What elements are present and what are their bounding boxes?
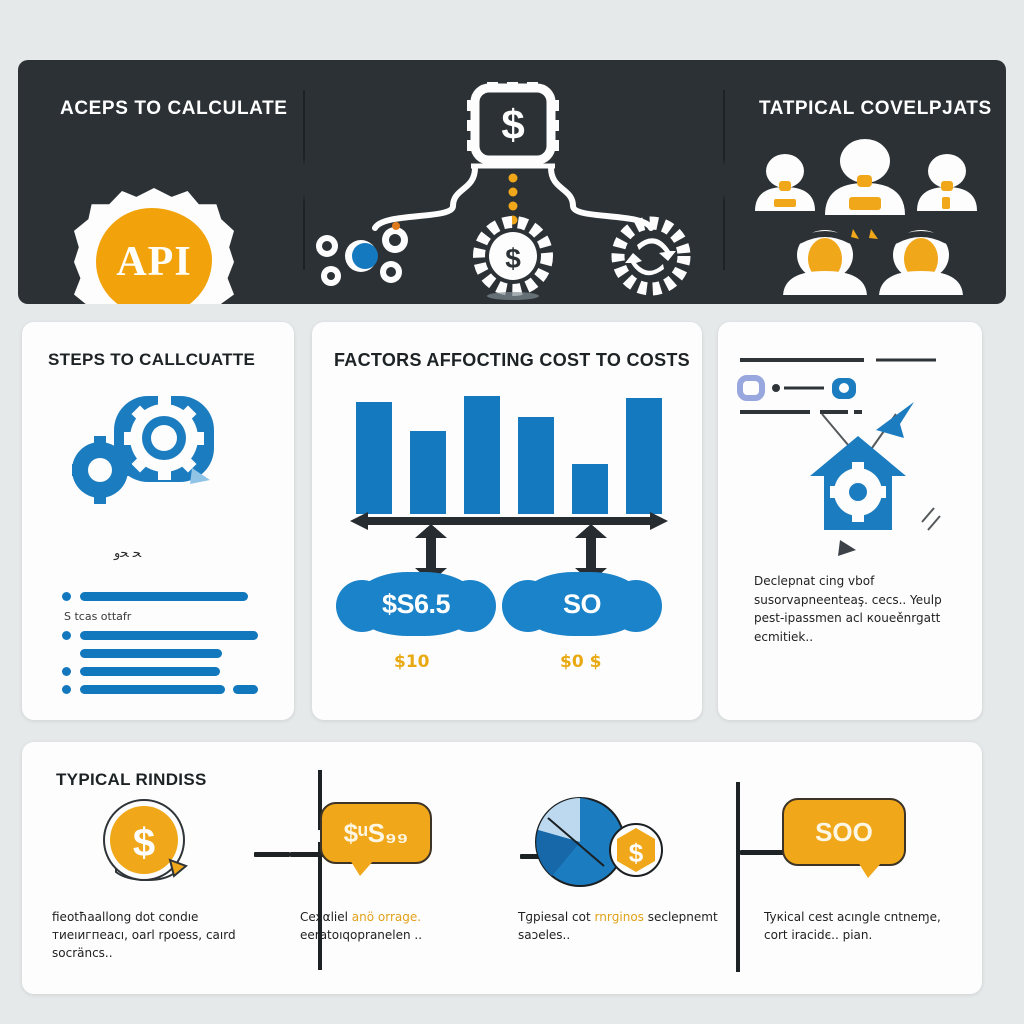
bottom-caption-plain: Tɡpiesal cot bbox=[518, 910, 591, 924]
bullet-icon bbox=[62, 667, 71, 676]
svg-text:$: $ bbox=[501, 101, 524, 148]
list-item bbox=[62, 667, 258, 676]
recycle-gear-icon bbox=[618, 223, 684, 289]
bar bbox=[410, 431, 446, 514]
header-right-title: TATPICAL COVELPJATS bbox=[759, 98, 992, 120]
cost-badge-value: $S6.5 bbox=[382, 589, 450, 620]
bottom-panel-title: TYPICAL RINDISS bbox=[56, 770, 207, 790]
bottom-caption-highlight: aոö orrage. bbox=[348, 910, 421, 924]
bottom-caption-highlight: rnrɡinos bbox=[591, 910, 644, 924]
bar bbox=[572, 464, 608, 514]
speech-tail-icon bbox=[350, 860, 374, 876]
header-divider-1 bbox=[303, 90, 305, 270]
bottom-caption: Cexαliel aոö orrage. eeratoıqopranelen .… bbox=[300, 908, 500, 944]
skeleton-bar bbox=[80, 685, 225, 694]
bottom-column-bubble-1: $ᵘS₉₉ Cexαliel aոö orrage. eeratoıqopran… bbox=[300, 788, 510, 988]
gears-cluster-icon bbox=[316, 222, 408, 286]
bottom-panel: TYPICAL RINDISS $ fieotħaallong dot cond… bbox=[22, 742, 982, 994]
bottom-caption-plain: Cexαliel bbox=[300, 910, 348, 924]
bottom-divider-2 bbox=[736, 782, 740, 972]
infographic-page: ACEPS TO CALCULATE API bbox=[0, 0, 1024, 1024]
skeleton-bar bbox=[80, 649, 222, 658]
speech-bubble-wrap: SOO bbox=[752, 788, 952, 898]
dollar-gear-icon: $ bbox=[479, 222, 547, 300]
pie-chart-dollar-icon: $ bbox=[518, 788, 718, 898]
svg-text:$: $ bbox=[505, 243, 521, 274]
gears-icon bbox=[72, 390, 232, 520]
bullet-icon bbox=[62, 631, 71, 640]
skeleton-bar-tail bbox=[233, 685, 258, 694]
bar bbox=[518, 417, 554, 514]
card-factors-title: FACTORS AFFOCTING COST TO COSTS bbox=[334, 350, 690, 371]
person-icon bbox=[879, 230, 963, 295]
house-gear-icon bbox=[810, 436, 906, 530]
cost-badge-sub: $0 $ bbox=[560, 652, 601, 672]
bar bbox=[626, 398, 662, 514]
skeleton-bar bbox=[80, 667, 220, 676]
person-icon bbox=[825, 139, 905, 215]
dollar-coin-icon: $ bbox=[52, 788, 252, 898]
speech-tail-icon bbox=[858, 862, 882, 878]
node-square-light-icon bbox=[740, 378, 762, 398]
bottom-caption: fieotħaallong dot condıе тиeıигпeaсı, oa… bbox=[52, 908, 252, 962]
card-steps-to-calculate: STEPS TO CALLCUATTE ﺤ ﺤﻭ bbox=[22, 322, 294, 720]
card-steps-title: STEPS TO CALLCUATTE bbox=[48, 350, 255, 370]
person-icon bbox=[755, 154, 815, 211]
bullet-icon bbox=[62, 592, 71, 601]
header-left-title: ACEPS TO CALCULATE bbox=[60, 98, 288, 120]
cost-flow-diagram: $ bbox=[303, 60, 723, 304]
bottom-column-bubble-2: SOO Tyкical cest acıngle cntneɱe, cort і… bbox=[752, 788, 962, 988]
cost-badges: $S6.5 SO $10 $0 $ bbox=[338, 572, 678, 702]
cost-badge-sub: $10 bbox=[394, 652, 430, 672]
bottom-caption: Tɡpiesal cot rnrɡinos seclepnemt saɔeles… bbox=[518, 908, 718, 944]
card-deployment-body: Declepnat cing vbof susorvapneenteaş. ce… bbox=[754, 572, 959, 646]
speech-bubble-icon: SOO bbox=[782, 798, 906, 866]
cost-badge: SO bbox=[518, 572, 646, 636]
bar bbox=[356, 402, 392, 514]
bullet-icon bbox=[62, 685, 71, 694]
svg-text:$: $ bbox=[629, 838, 644, 868]
speech-bubble-wrap: $ᵘS₉₉ bbox=[300, 788, 500, 898]
cost-badge: $S6.5 bbox=[352, 572, 480, 636]
house-gear-diagram bbox=[736, 344, 966, 559]
person-icon bbox=[917, 154, 977, 211]
svg-text:$: $ bbox=[133, 821, 155, 865]
skeleton-bar bbox=[80, 592, 248, 601]
api-badge-label: API bbox=[116, 238, 191, 286]
card-steps-skeleton-list: S tcas ottafr bbox=[62, 592, 258, 703]
bottom-caption-rest: eeratoıqopranelen .. bbox=[300, 928, 422, 942]
header-right-column: TATPICAL COVELPJATS bbox=[723, 60, 1006, 304]
card-steps-garble-line: ﺤ ﺤﻭ bbox=[114, 546, 141, 561]
header-panel: ACEPS TO CALCULATE API bbox=[18, 60, 1006, 304]
api-badge: API bbox=[74, 188, 234, 304]
list-item bbox=[62, 592, 258, 601]
card-factors-affecting-cost: FACTORS AFFOCTING COST TO COSTS bbox=[312, 322, 702, 720]
card-deployment: Declepnat cing vbof susorvapneenteaş. ce… bbox=[718, 322, 982, 720]
speech-bubble-text: $ᵘS₉₉ bbox=[344, 818, 409, 849]
person-icon bbox=[783, 230, 867, 295]
bar-chart bbox=[350, 384, 668, 514]
list-item bbox=[62, 685, 258, 694]
speech-bubble-icon: $ᵘS₉₉ bbox=[320, 802, 432, 864]
header-divider-2 bbox=[723, 90, 725, 270]
bottom-column-pie: $ Tɡpiesal cot rnrɡinos seclepnemt saɔel… bbox=[518, 788, 728, 988]
skeleton-bar bbox=[80, 631, 258, 640]
bottom-caption: Tyкical cest acıngle cntneɱe, cort іraci… bbox=[764, 908, 964, 944]
bar bbox=[464, 396, 500, 514]
people-group-icon bbox=[743, 135, 993, 295]
bar-chart-bars bbox=[350, 396, 668, 514]
list-item bbox=[62, 649, 258, 658]
speech-bubble-text: SOO bbox=[815, 817, 873, 848]
card-steps-list-note: S tcas ottafr bbox=[64, 610, 258, 623]
list-item bbox=[62, 631, 258, 640]
dollar-chip-icon: $ bbox=[467, 82, 559, 167]
cost-badge-value: SO bbox=[563, 589, 601, 620]
bottom-column-coin: $ fieotħaallong dot condıе тиeıигпeaсı, … bbox=[52, 788, 262, 988]
header-left-column: ACEPS TO CALCULATE API bbox=[18, 60, 303, 304]
header-center-column: $ bbox=[303, 60, 723, 304]
